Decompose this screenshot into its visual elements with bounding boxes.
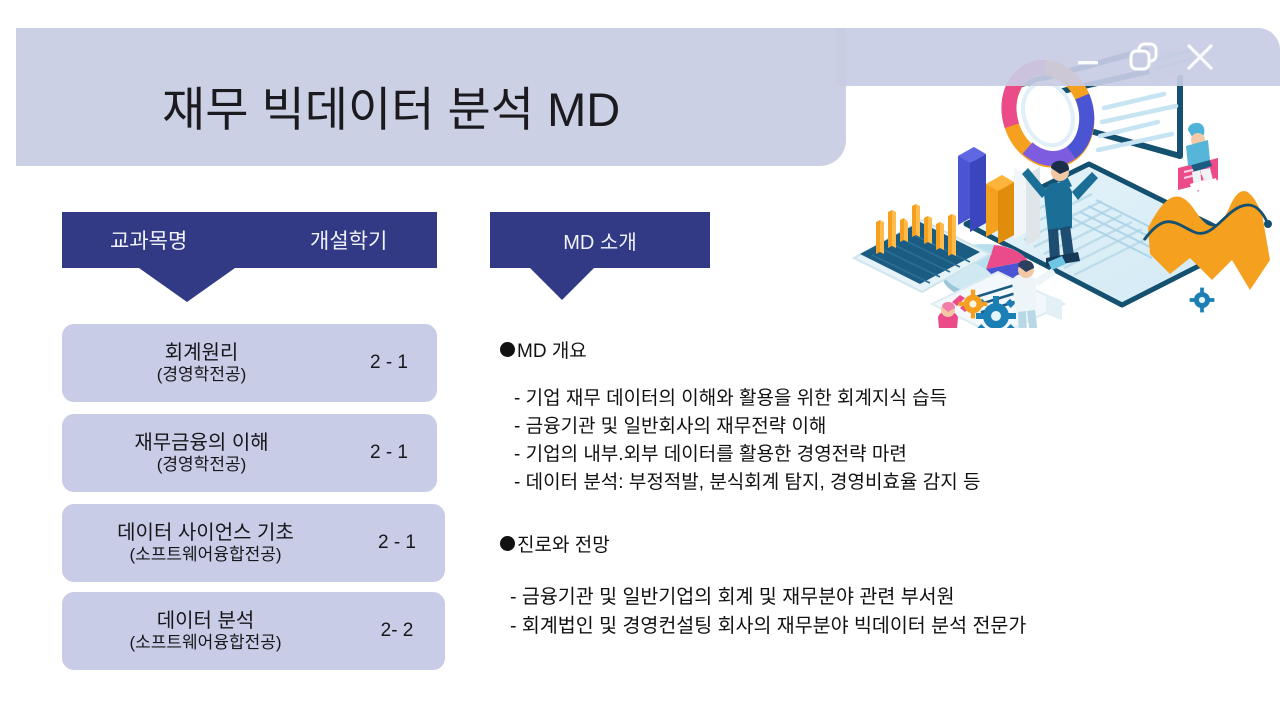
career-title: 진로와 전망 bbox=[517, 530, 610, 557]
md-intro-pointer-triangle bbox=[530, 268, 594, 300]
title-banner: 재무 빅데이터 분석 MD bbox=[16, 28, 846, 166]
bullet-item: - 금융기관 및 일반회사의 재무전략 이해 bbox=[500, 413, 980, 441]
course-name-cell: 재무금융의 이해 (경영학전공) bbox=[62, 432, 341, 473]
course-title: 데이터 사이언스 기초 bbox=[117, 522, 294, 544]
header-subject: 교과목명 bbox=[110, 212, 187, 268]
course-table-header: 교과목명 개설학기 bbox=[62, 212, 437, 268]
course-name-cell: 회계원리 (경영학전공) bbox=[62, 342, 341, 383]
course-name-cell: 데이터 사이언스 기초 (소프트웨어융합전공) bbox=[62, 522, 349, 563]
md-overview-section: MD 개요 - 기업 재무 데이터의 이해와 활용을 위한 회계지식 습득 - … bbox=[500, 336, 980, 497]
bullet-dot-icon bbox=[500, 536, 515, 551]
minimize-button[interactable] bbox=[1060, 28, 1116, 86]
course-semester-cell: 2 - 1 bbox=[341, 352, 437, 374]
course-semester-cell: 2 - 1 bbox=[341, 442, 437, 464]
md-overview-title: MD 개요 bbox=[517, 336, 587, 363]
bullet-item: - 기업 재무 데이터의 이해와 활용을 위한 회계지식 습득 bbox=[500, 385, 980, 413]
career-outlook-section: 진로와 전망 - 금융기관 및 일반기업의 회계 및 재무분야 관련 부서원 -… bbox=[500, 530, 1026, 642]
slide-canvas: 재무 빅데이터 분석 MD 교과목명 개설학기 회계원리 (경영 bbox=[0, 0, 1280, 720]
course-major: (소프트웨어융합전공) bbox=[129, 633, 281, 652]
bullet-item: - 금융기관 및 일반기업의 회계 및 재무분야 관련 부서원 bbox=[500, 583, 1026, 612]
header-pointer-triangle bbox=[139, 268, 235, 302]
header-semester: 개설학기 bbox=[310, 212, 387, 268]
md-overview-title-row: MD 개요 bbox=[500, 336, 980, 363]
course-name-cell: 데이터 분석 (소프트웨어융합전공) bbox=[62, 610, 349, 651]
course-title: 데이터 분석 bbox=[157, 610, 255, 632]
md-intro-header: MD 소개 bbox=[490, 212, 710, 268]
course-semester-cell: 2 - 1 bbox=[349, 532, 445, 554]
close-button[interactable] bbox=[1172, 28, 1228, 86]
course-major: (경영학전공) bbox=[157, 455, 247, 474]
bullet-item: - 데이터 분석: 부정적발, 분식회계 탐지, 경영비효율 감지 등 bbox=[500, 469, 980, 497]
minimize-icon bbox=[1073, 42, 1103, 72]
table-row[interactable]: 데이터 분석 (소프트웨어융합전공) 2- 2 bbox=[62, 592, 445, 670]
table-row[interactable]: 데이터 사이언스 기초 (소프트웨어융합전공) 2 - 1 bbox=[62, 504, 445, 582]
course-major: (경영학전공) bbox=[157, 365, 247, 384]
window-controls bbox=[1060, 28, 1228, 86]
table-row[interactable]: 회계원리 (경영학전공) 2 - 1 bbox=[62, 324, 437, 402]
restore-icon bbox=[1125, 38, 1163, 76]
close-icon bbox=[1183, 40, 1217, 74]
restore-button[interactable] bbox=[1116, 28, 1172, 86]
bullet-item: - 기업의 내부.외부 데이터를 활용한 경영전략 마련 bbox=[500, 441, 980, 469]
md-intro-header-label: MD 소개 bbox=[490, 212, 710, 268]
course-title: 재무금융의 이해 bbox=[134, 432, 268, 454]
bullet-dot-icon bbox=[500, 342, 515, 357]
course-major: (소프트웨어융합전공) bbox=[129, 545, 281, 564]
page-title: 재무 빅데이터 분석 MD bbox=[162, 86, 620, 133]
course-semester-cell: 2- 2 bbox=[349, 620, 445, 642]
bullet-item: - 회계법인 및 경영컨설팅 회사의 재무분야 빅데이터 분석 전문가 bbox=[500, 612, 1026, 641]
table-row[interactable]: 재무금융의 이해 (경영학전공) 2 - 1 bbox=[62, 414, 437, 492]
career-bullets: - 금융기관 및 일반기업의 회계 및 재무분야 관련 부서원 - 회계법인 및… bbox=[500, 583, 1026, 642]
career-title-row: 진로와 전망 bbox=[500, 530, 1026, 557]
md-overview-bullets: - 기업 재무 데이터의 이해와 활용을 위한 회계지식 습득 - 금융기관 및… bbox=[500, 385, 980, 497]
course-title: 회계원리 bbox=[165, 342, 239, 364]
